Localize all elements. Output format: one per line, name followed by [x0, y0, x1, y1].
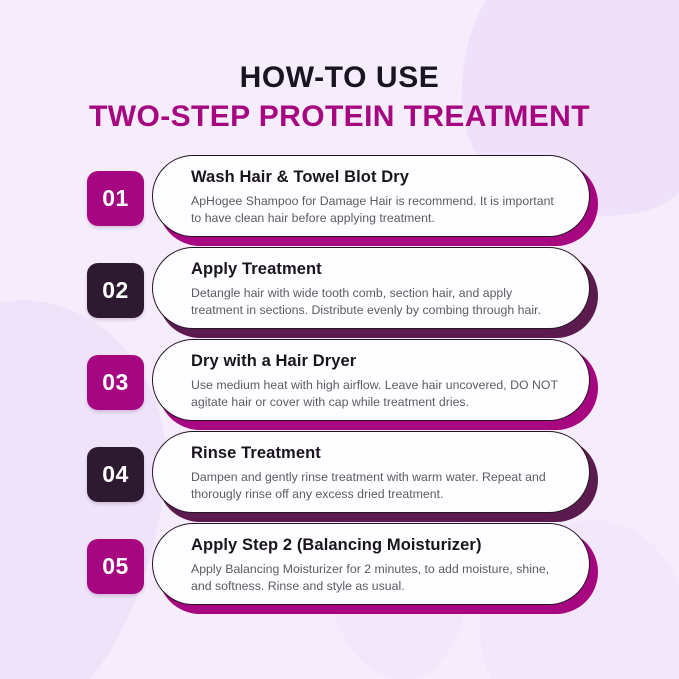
step-card-body: Apply Step 2 (Balancing Moisturizer)Appl…	[152, 523, 590, 605]
step-row: 04Rinse TreatmentDampen and gently rinse…	[0, 428, 679, 520]
step-number-badge: 04	[87, 447, 144, 502]
step-title: Apply Treatment	[191, 260, 559, 280]
step-card-body: Apply TreatmentDetangle hair with wide t…	[152, 247, 590, 329]
step-description: Dampen and gently rinse treatment with w…	[191, 469, 559, 504]
step-card-body: Dry with a Hair DryerUse medium heat wit…	[152, 339, 590, 421]
steps-list: 01Wash Hair & Towel Blot DryApHogee Sham…	[0, 152, 679, 612]
step-number-badge: 03	[87, 355, 144, 410]
step-row: 01Wash Hair & Towel Blot DryApHogee Sham…	[0, 152, 679, 244]
step-card: Dry with a Hair DryerUse medium heat wit…	[152, 339, 592, 423]
step-title: Apply Step 2 (Balancing Moisturizer)	[191, 536, 559, 556]
infographic-canvas: HOW-TO USE TWO-STEP PROTEIN TREATMENT 01…	[0, 0, 679, 679]
step-description: Use medium heat with high airflow. Leave…	[191, 377, 559, 412]
step-title: Wash Hair & Towel Blot Dry	[191, 168, 559, 188]
step-description: ApHogee Shampoo for Damage Hair is recom…	[191, 193, 559, 228]
step-row: 03Dry with a Hair DryerUse medium heat w…	[0, 336, 679, 428]
step-number-badge: 02	[87, 263, 144, 318]
step-row: 05Apply Step 2 (Balancing Moisturizer)Ap…	[0, 520, 679, 612]
step-number-badge: 01	[87, 171, 144, 226]
step-card: Wash Hair & Towel Blot DryApHogee Shampo…	[152, 155, 592, 239]
step-description: Detangle hair with wide tooth comb, sect…	[191, 285, 559, 320]
step-card: Apply Step 2 (Balancing Moisturizer)Appl…	[152, 523, 592, 607]
step-number-badge: 05	[87, 539, 144, 594]
step-title: Dry with a Hair Dryer	[191, 352, 559, 372]
step-card-body: Rinse TreatmentDampen and gently rinse t…	[152, 431, 590, 513]
page-title-secondary: TWO-STEP PROTEIN TREATMENT	[0, 101, 679, 133]
step-card-body: Wash Hair & Towel Blot DryApHogee Shampo…	[152, 155, 590, 237]
page-title-primary: HOW-TO USE	[0, 62, 679, 94]
step-card: Rinse TreatmentDampen and gently rinse t…	[152, 431, 592, 515]
step-card: Apply TreatmentDetangle hair with wide t…	[152, 247, 592, 331]
step-title: Rinse Treatment	[191, 444, 559, 464]
step-description: Apply Balancing Moisturizer for 2 minute…	[191, 561, 559, 596]
step-row: 02Apply TreatmentDetangle hair with wide…	[0, 244, 679, 336]
page-header: HOW-TO USE TWO-STEP PROTEIN TREATMENT	[0, 62, 679, 134]
